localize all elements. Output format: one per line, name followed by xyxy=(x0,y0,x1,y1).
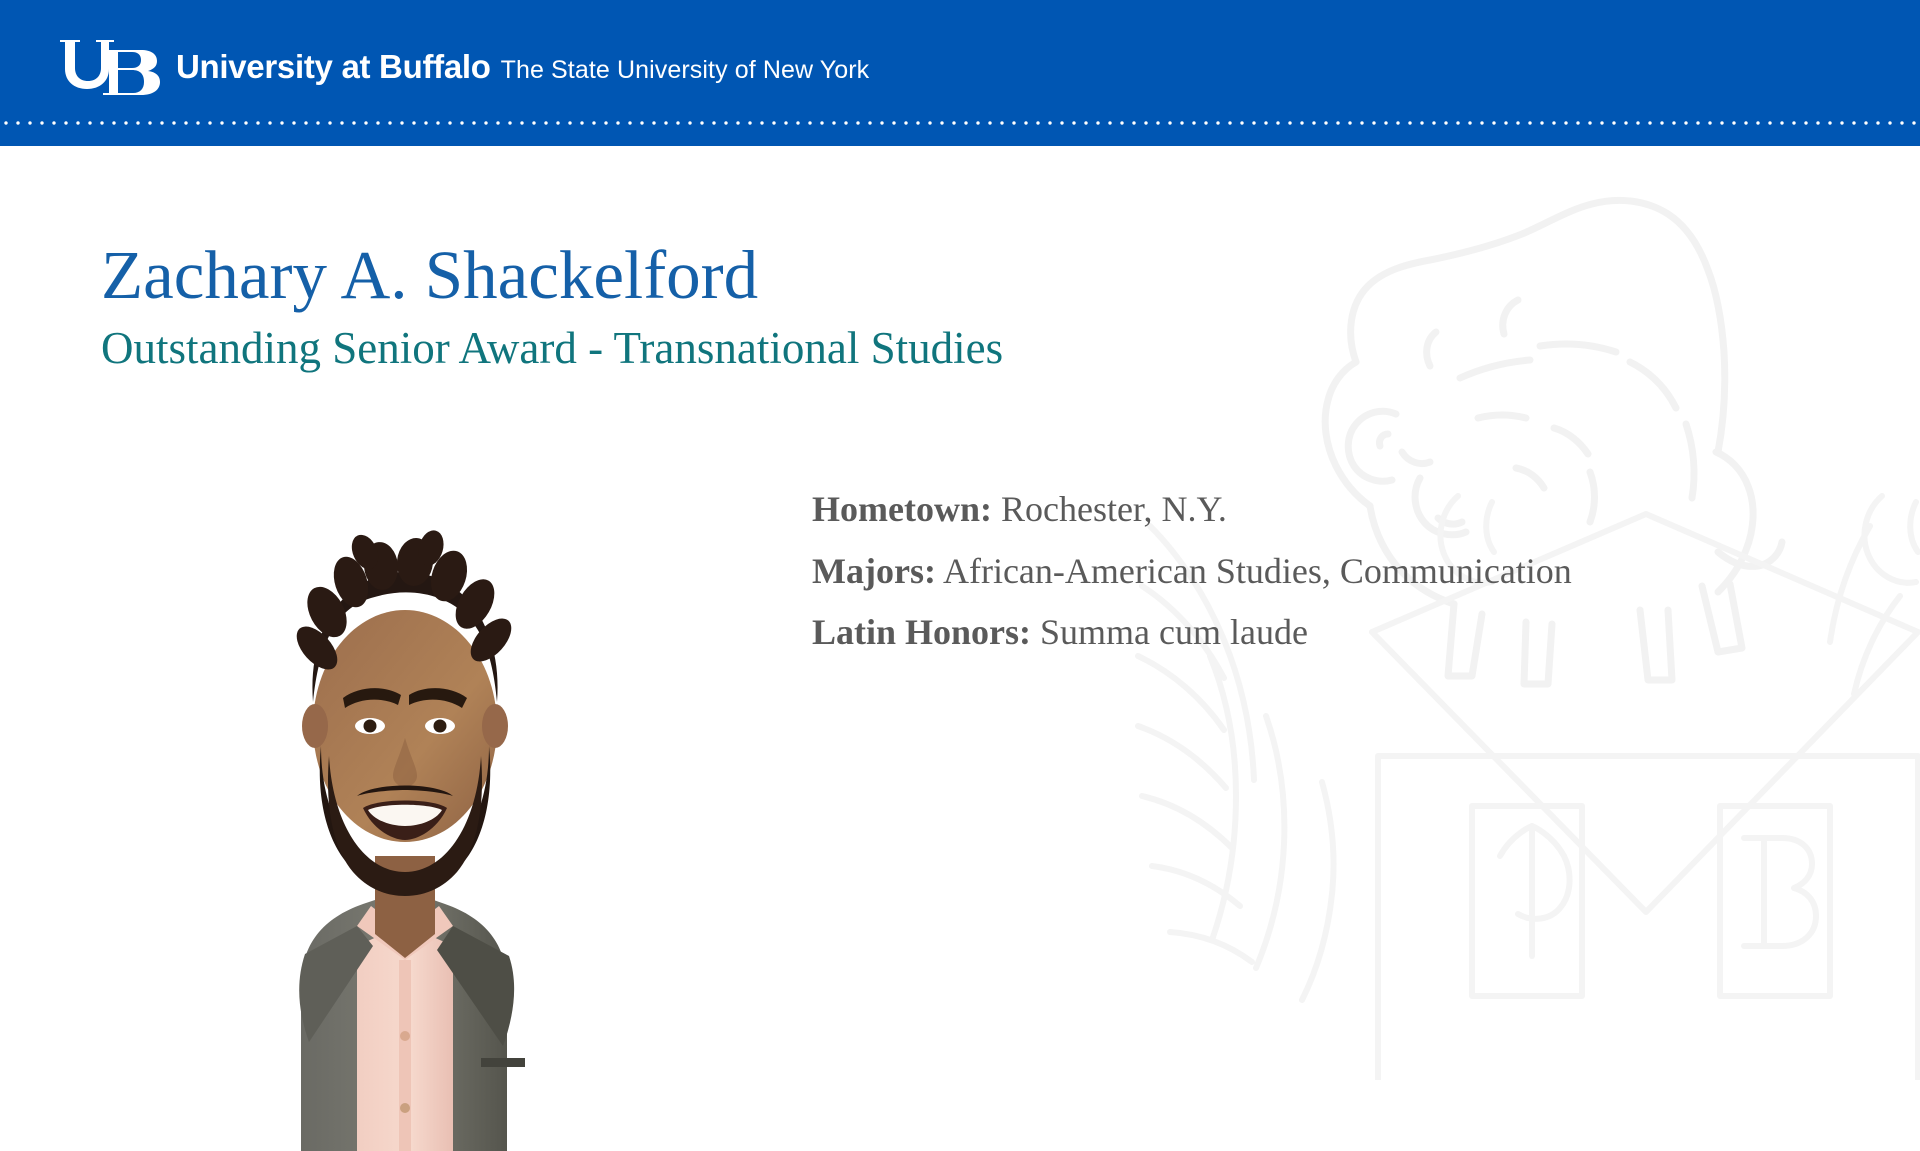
page-title: Zachary A. Shackelford xyxy=(101,241,758,310)
detail-label: Hometown: xyxy=(812,489,992,529)
detail-value: Rochester, N.Y. xyxy=(1001,489,1227,529)
slide-content: Zachary A. Shackelford Outstanding Senio… xyxy=(0,146,1920,1080)
detail-label: Latin Honors: xyxy=(812,612,1031,652)
page-subtitle: Outstanding Senior Award - Transnational… xyxy=(101,326,1003,371)
detail-row: Majors: African-American Studies, Commun… xyxy=(812,548,1572,596)
wordmark-primary: University at Buffalo xyxy=(176,48,491,86)
student-portrait-photo xyxy=(205,426,595,1151)
detail-row: Hometown: Rochester, N.Y. xyxy=(812,486,1572,534)
ub-monogram-icon xyxy=(56,36,162,98)
detail-label: Majors: xyxy=(812,551,936,591)
site-header: University at Buffalo The State Universi… xyxy=(0,0,1920,146)
header-wordmark: University at Buffalo The State Universi… xyxy=(176,48,869,86)
student-details: Hometown: Rochester, N.Y. Majors: Africa… xyxy=(812,486,1572,671)
detail-row: Latin Honors: Summa cum laude xyxy=(812,609,1572,657)
ub-logo[interactable]: University at Buffalo The State Universi… xyxy=(56,36,869,98)
detail-value: Summa cum laude xyxy=(1040,612,1308,652)
wordmark-secondary: The State University of New York xyxy=(501,56,870,85)
header-dotted-divider xyxy=(0,120,1920,126)
detail-value: African-American Studies, Communication xyxy=(943,551,1572,591)
